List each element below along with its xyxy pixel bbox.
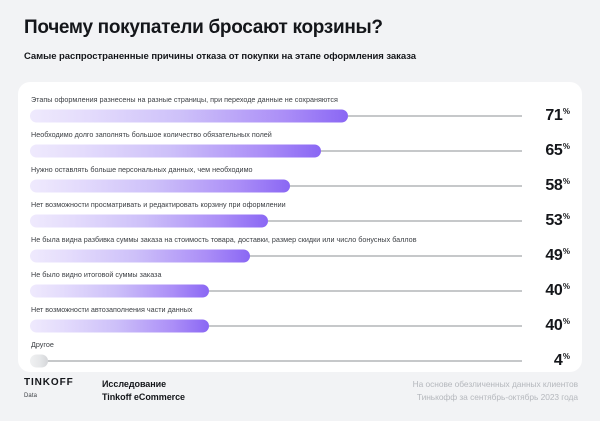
chart-row: Нужно оставлять больше персональных данн…	[30, 162, 570, 197]
leader-line	[30, 361, 522, 362]
bar-track: 40%	[30, 315, 570, 337]
brand-sublabel: Data	[24, 393, 100, 399]
bar-chart: Этапы оформления разнесены на разные стр…	[30, 92, 570, 364]
page-subtitle: Самые распространенные причины отказа от…	[24, 51, 576, 63]
bar-category-label: Не была видна разбивка суммы заказа на с…	[30, 232, 570, 243]
percent-sign: %	[563, 177, 570, 186]
chart-row: Этапы оформления разнесены на разные стр…	[30, 92, 570, 127]
bar-value-number: 53	[545, 212, 562, 229]
bar-fill	[30, 145, 321, 158]
bar-category-label: Нет возможности просматривать и редактир…	[30, 197, 570, 208]
bar-category-label: Не было видно итоговой суммы заказа	[30, 267, 570, 278]
bar-value-label: 65%	[545, 143, 570, 159]
bar-value-label: 4%	[554, 353, 570, 369]
bar-track: 40%	[30, 280, 570, 302]
bar-fill	[30, 355, 48, 368]
header: Почему покупатели бросают корзины? Самые…	[0, 0, 600, 63]
bar-value-number: 49	[545, 247, 562, 264]
bar-fill	[30, 250, 250, 263]
bar-fill	[30, 320, 209, 333]
chart-row: Не было видно итоговой суммы заказа40%	[30, 267, 570, 302]
percent-sign: %	[563, 142, 570, 151]
brand-name: TINKOFF	[24, 378, 100, 388]
bar-value-number: 40	[545, 282, 562, 299]
bar-track: 49%	[30, 245, 570, 267]
research-label: Исследование	[102, 378, 413, 391]
bar-fill	[30, 180, 290, 193]
bar-value-number: 58	[545, 177, 562, 194]
bar-category-label: Нет возможности автозаполнения части дан…	[30, 302, 570, 313]
disclaimer-line-1: На основе обезличенных данных клиентов	[413, 378, 578, 391]
footer: TINKOFF Data Исследование Tinkoff eComme…	[0, 372, 600, 421]
chart-row: Другое4%	[30, 337, 570, 372]
bar-fill	[30, 215, 268, 228]
bar-track: 71%	[30, 105, 570, 127]
chart-row: Нет возможности автозаполнения части дан…	[30, 302, 570, 337]
chart-card: Этапы оформления разнесены на разные стр…	[18, 82, 582, 372]
bar-track: 4%	[30, 350, 570, 372]
bar-value-label: 49%	[545, 248, 570, 264]
bar-value-label: 58%	[545, 178, 570, 194]
percent-sign: %	[563, 247, 570, 256]
research-credit: Исследование Tinkoff eCommerce	[100, 378, 413, 404]
bar-value-number: 71	[545, 107, 562, 124]
bar-track: 58%	[30, 175, 570, 197]
infographic-poster: Почему покупатели бросают корзины? Самые…	[0, 0, 600, 421]
bar-value-label: 71%	[545, 108, 570, 124]
bar-category-label: Необходимо долго заполнять большое колич…	[30, 127, 570, 138]
percent-sign: %	[563, 317, 570, 326]
research-name: Tinkoff eCommerce	[102, 391, 413, 404]
bar-fill	[30, 110, 348, 123]
bar-track: 53%	[30, 210, 570, 232]
bar-value-label: 40%	[545, 283, 570, 299]
bar-category-label: Другое	[30, 337, 570, 348]
bar-value-label: 53%	[545, 213, 570, 229]
bar-category-label: Этапы оформления разнесены на разные стр…	[30, 92, 570, 103]
bar-track: 65%	[30, 140, 570, 162]
page-title: Почему покупатели бросают корзины?	[24, 17, 576, 39]
brand-logo: TINKOFF Data	[24, 378, 100, 399]
bar-value-number: 4	[554, 352, 563, 369]
percent-sign: %	[563, 282, 570, 291]
chart-row: Необходимо долго заполнять большое колич…	[30, 127, 570, 162]
bar-value-label: 40%	[545, 318, 570, 334]
percent-sign: %	[563, 212, 570, 221]
chart-row: Не была видна разбивка суммы заказа на с…	[30, 232, 570, 267]
bar-category-label: Нужно оставлять больше персональных данн…	[30, 162, 570, 173]
percent-sign: %	[563, 107, 570, 116]
disclaimer: На основе обезличенных данных клиентов Т…	[413, 378, 578, 403]
disclaimer-line-2: Тинькофф за сентябрь-октябрь 2023 года	[413, 391, 578, 404]
bar-value-number: 65	[545, 142, 562, 159]
percent-sign: %	[563, 352, 570, 361]
bar-value-number: 40	[545, 317, 562, 334]
bar-fill	[30, 285, 209, 298]
chart-row: Нет возможности просматривать и редактир…	[30, 197, 570, 232]
